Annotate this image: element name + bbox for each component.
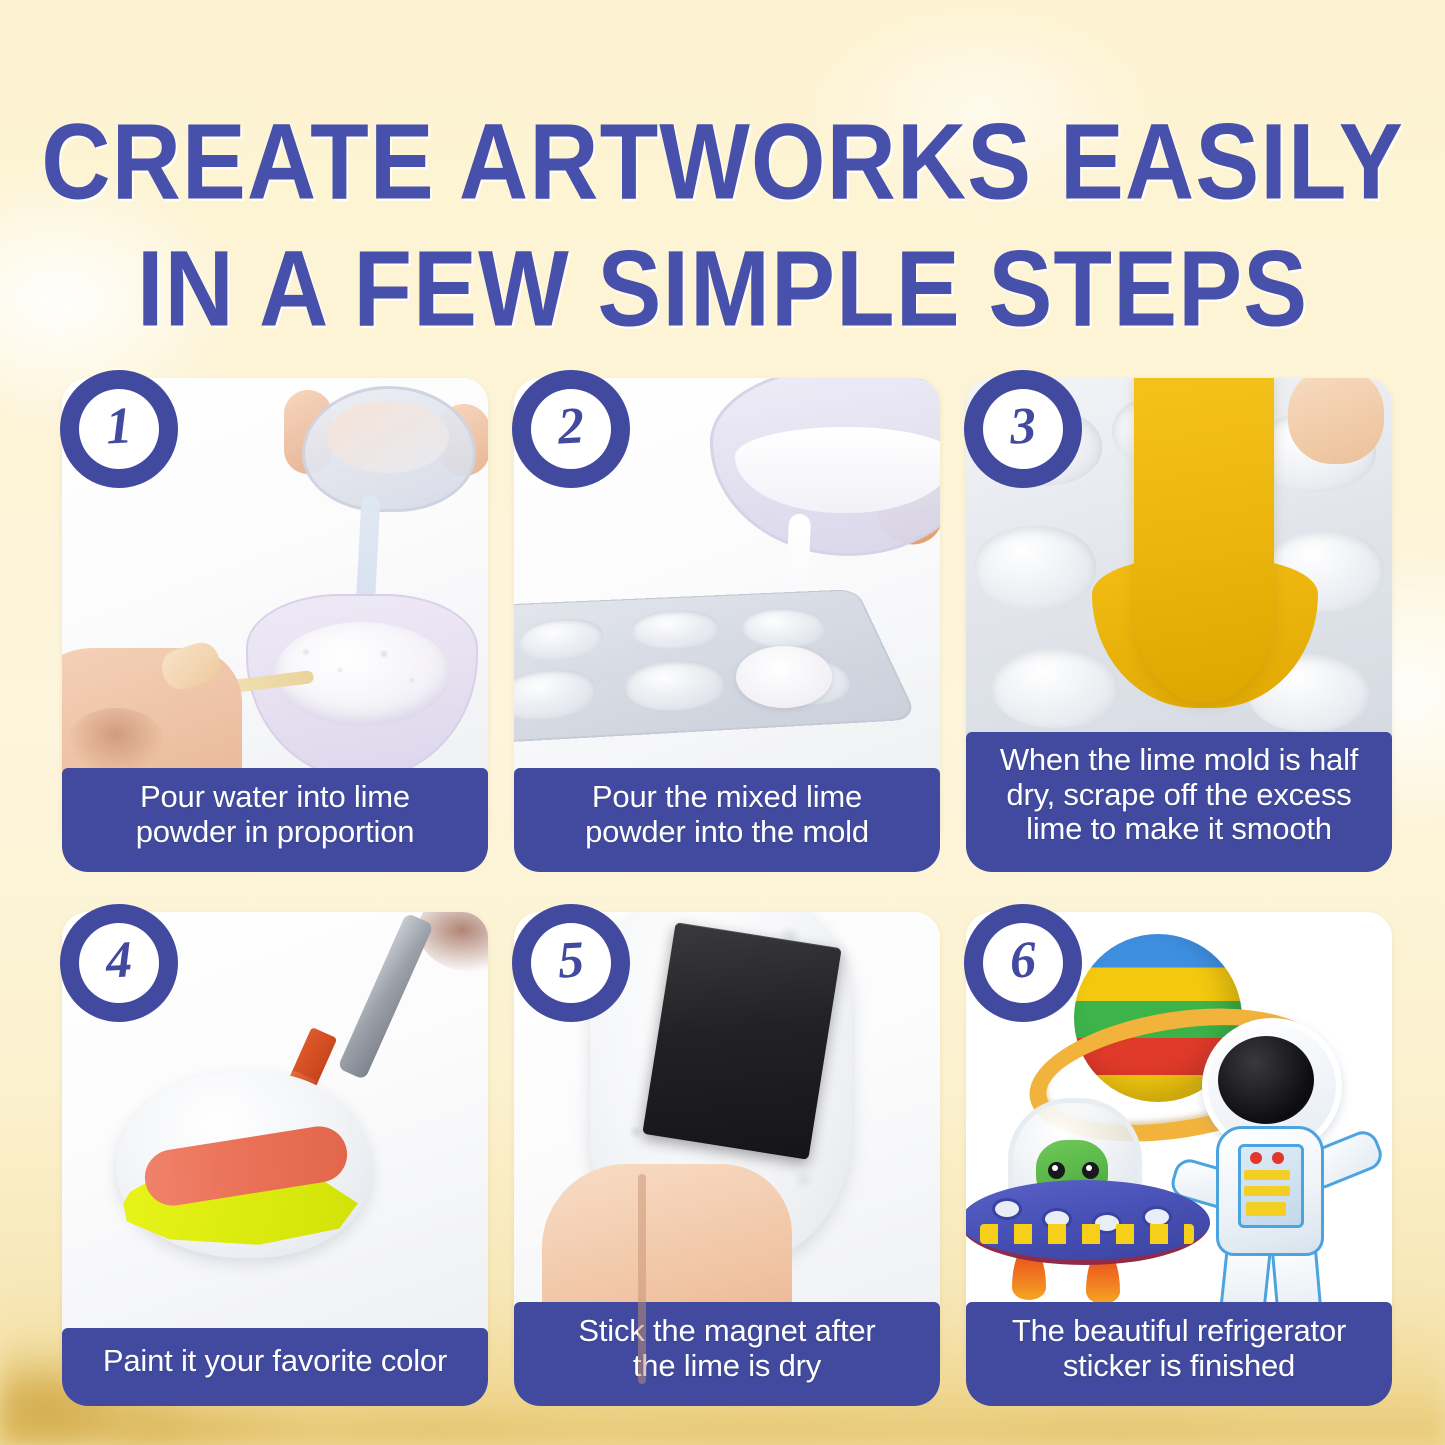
title-line-1: CREATE ARTWORKS EASILY <box>0 108 1445 219</box>
mold-cavity-illustration <box>625 659 728 713</box>
filled-cavity-illustration <box>736 646 832 708</box>
lime-blob-illustration <box>974 526 1096 610</box>
ufo-body-illustration <box>966 1180 1210 1265</box>
water-cup-illustration <box>302 386 476 512</box>
panel-bar-illustration <box>1246 1202 1286 1216</box>
step-2-number: 2 <box>557 400 586 453</box>
step-5-caption-line-2: the lime is dry <box>524 1349 930 1384</box>
alien-eye-illustration <box>1048 1162 1065 1179</box>
ufo-light-strip-illustration <box>980 1224 1194 1244</box>
knuckle-shading-illustration <box>68 708 164 774</box>
step-1-number-badge: 1 <box>60 370 178 488</box>
paint-brush-handle-illustration <box>337 913 434 1081</box>
step-1-number: 1 <box>105 400 134 453</box>
mold-cavity-illustration <box>632 609 723 651</box>
thumb-illustration <box>1288 378 1384 464</box>
finger-separation-illustration <box>638 1174 646 1384</box>
infographic-poster: CREATE ARTWORKS EASILY IN A FEW SIMPLE S… <box>0 0 1445 1445</box>
step-6-number-badge: 6 <box>964 904 1082 1022</box>
slurry-cup-illustration <box>710 378 940 556</box>
lime-blob-illustration <box>992 648 1118 728</box>
step-5-caption-line-1: Stick the magnet after <box>524 1314 930 1349</box>
step-5-number: 5 <box>557 934 586 987</box>
step-6-caption: The beautiful refrigerator sticker is fi… <box>966 1302 1392 1406</box>
page-title: CREATE ARTWORKS EASILY IN A FEW SIMPLE S… <box>0 108 1445 334</box>
step-1-caption-line-1: Pour water into lime <box>72 780 478 815</box>
silicone-mold-tray-illustration <box>514 589 919 745</box>
step-1-caption: Pour water into lime powder in proportio… <box>62 768 488 872</box>
step-2-caption-line-2: powder into the mold <box>524 815 930 850</box>
step-2-caption: Pour the mixed lime powder into the mold <box>514 768 940 872</box>
step-card-2[interactable]: Pour the mixed lime powder into the mold… <box>514 378 940 850</box>
astronaut-visor-illustration <box>1218 1036 1314 1124</box>
steps-grid: Pour water into lime powder in proportio… <box>62 378 1392 1384</box>
mold-cavity-illustration <box>514 667 597 721</box>
ufo-port-illustration <box>992 1198 1022 1220</box>
knuckle-shading-illustration <box>418 912 488 972</box>
panel-bar-illustration <box>1244 1170 1290 1180</box>
step-2-number-badge: 2 <box>512 370 630 488</box>
cup-interior-illustration <box>327 401 449 473</box>
step-1-caption-line-2: powder in proportion <box>72 815 478 850</box>
panel-indicator-illustration <box>1272 1152 1284 1164</box>
title-line-2: IN A FEW SIMPLE STEPS <box>0 235 1445 346</box>
step-5-caption: Stick the magnet after the lime is dry <box>514 1302 940 1406</box>
alien-eye-illustration <box>1082 1162 1099 1179</box>
mold-cavity-illustration <box>514 617 604 661</box>
step-5-number-badge: 5 <box>512 904 630 1022</box>
lime-slurry-illustration <box>735 427 940 513</box>
step-3-caption: When the lime mold is half dry, scrape o… <box>966 732 1392 872</box>
step-3-number: 3 <box>1009 400 1038 453</box>
step-3-caption-line-3: lime to make it smooth <box>976 812 1382 847</box>
step-3-caption-line-1: When the lime mold is half <box>976 743 1382 778</box>
panel-bar-illustration <box>1244 1186 1290 1196</box>
plaster-piece-illustration <box>116 1072 372 1258</box>
step-6-caption-line-1: The beautiful refrigerator <box>976 1314 1382 1349</box>
step-6-number: 6 <box>1009 934 1038 987</box>
yellow-scraper-illustration <box>1134 378 1274 702</box>
step-card-1[interactable]: Pour water into lime powder in proportio… <box>62 378 488 850</box>
panel-indicator-illustration <box>1250 1152 1262 1164</box>
step-3-number-badge: 3 <box>964 370 1082 488</box>
step-4-number: 4 <box>105 934 134 987</box>
step-4-caption: Paint it your favorite color <box>62 1328 488 1406</box>
step-card-4[interactable]: Paint it your favorite color 4 <box>62 912 488 1384</box>
step-card-6[interactable]: The beautiful refrigerator sticker is fi… <box>966 912 1392 1384</box>
step-3-caption-line-2: dry, scrape off the excess <box>976 778 1382 813</box>
black-magnet-illustration <box>642 922 841 1160</box>
step-4-number-badge: 4 <box>60 904 178 1022</box>
step-4-caption-line-1: Paint it your favorite color <box>72 1344 478 1379</box>
step-6-caption-line-2: sticker is finished <box>976 1349 1382 1384</box>
mold-cavity-illustration <box>738 607 832 649</box>
step-card-5[interactable]: Stick the magnet after the lime is dry 5 <box>514 912 940 1384</box>
step-card-3[interactable]: When the lime mold is half dry, scrape o… <box>966 378 1392 850</box>
step-2-caption-line-1: Pour the mixed lime <box>524 780 930 815</box>
